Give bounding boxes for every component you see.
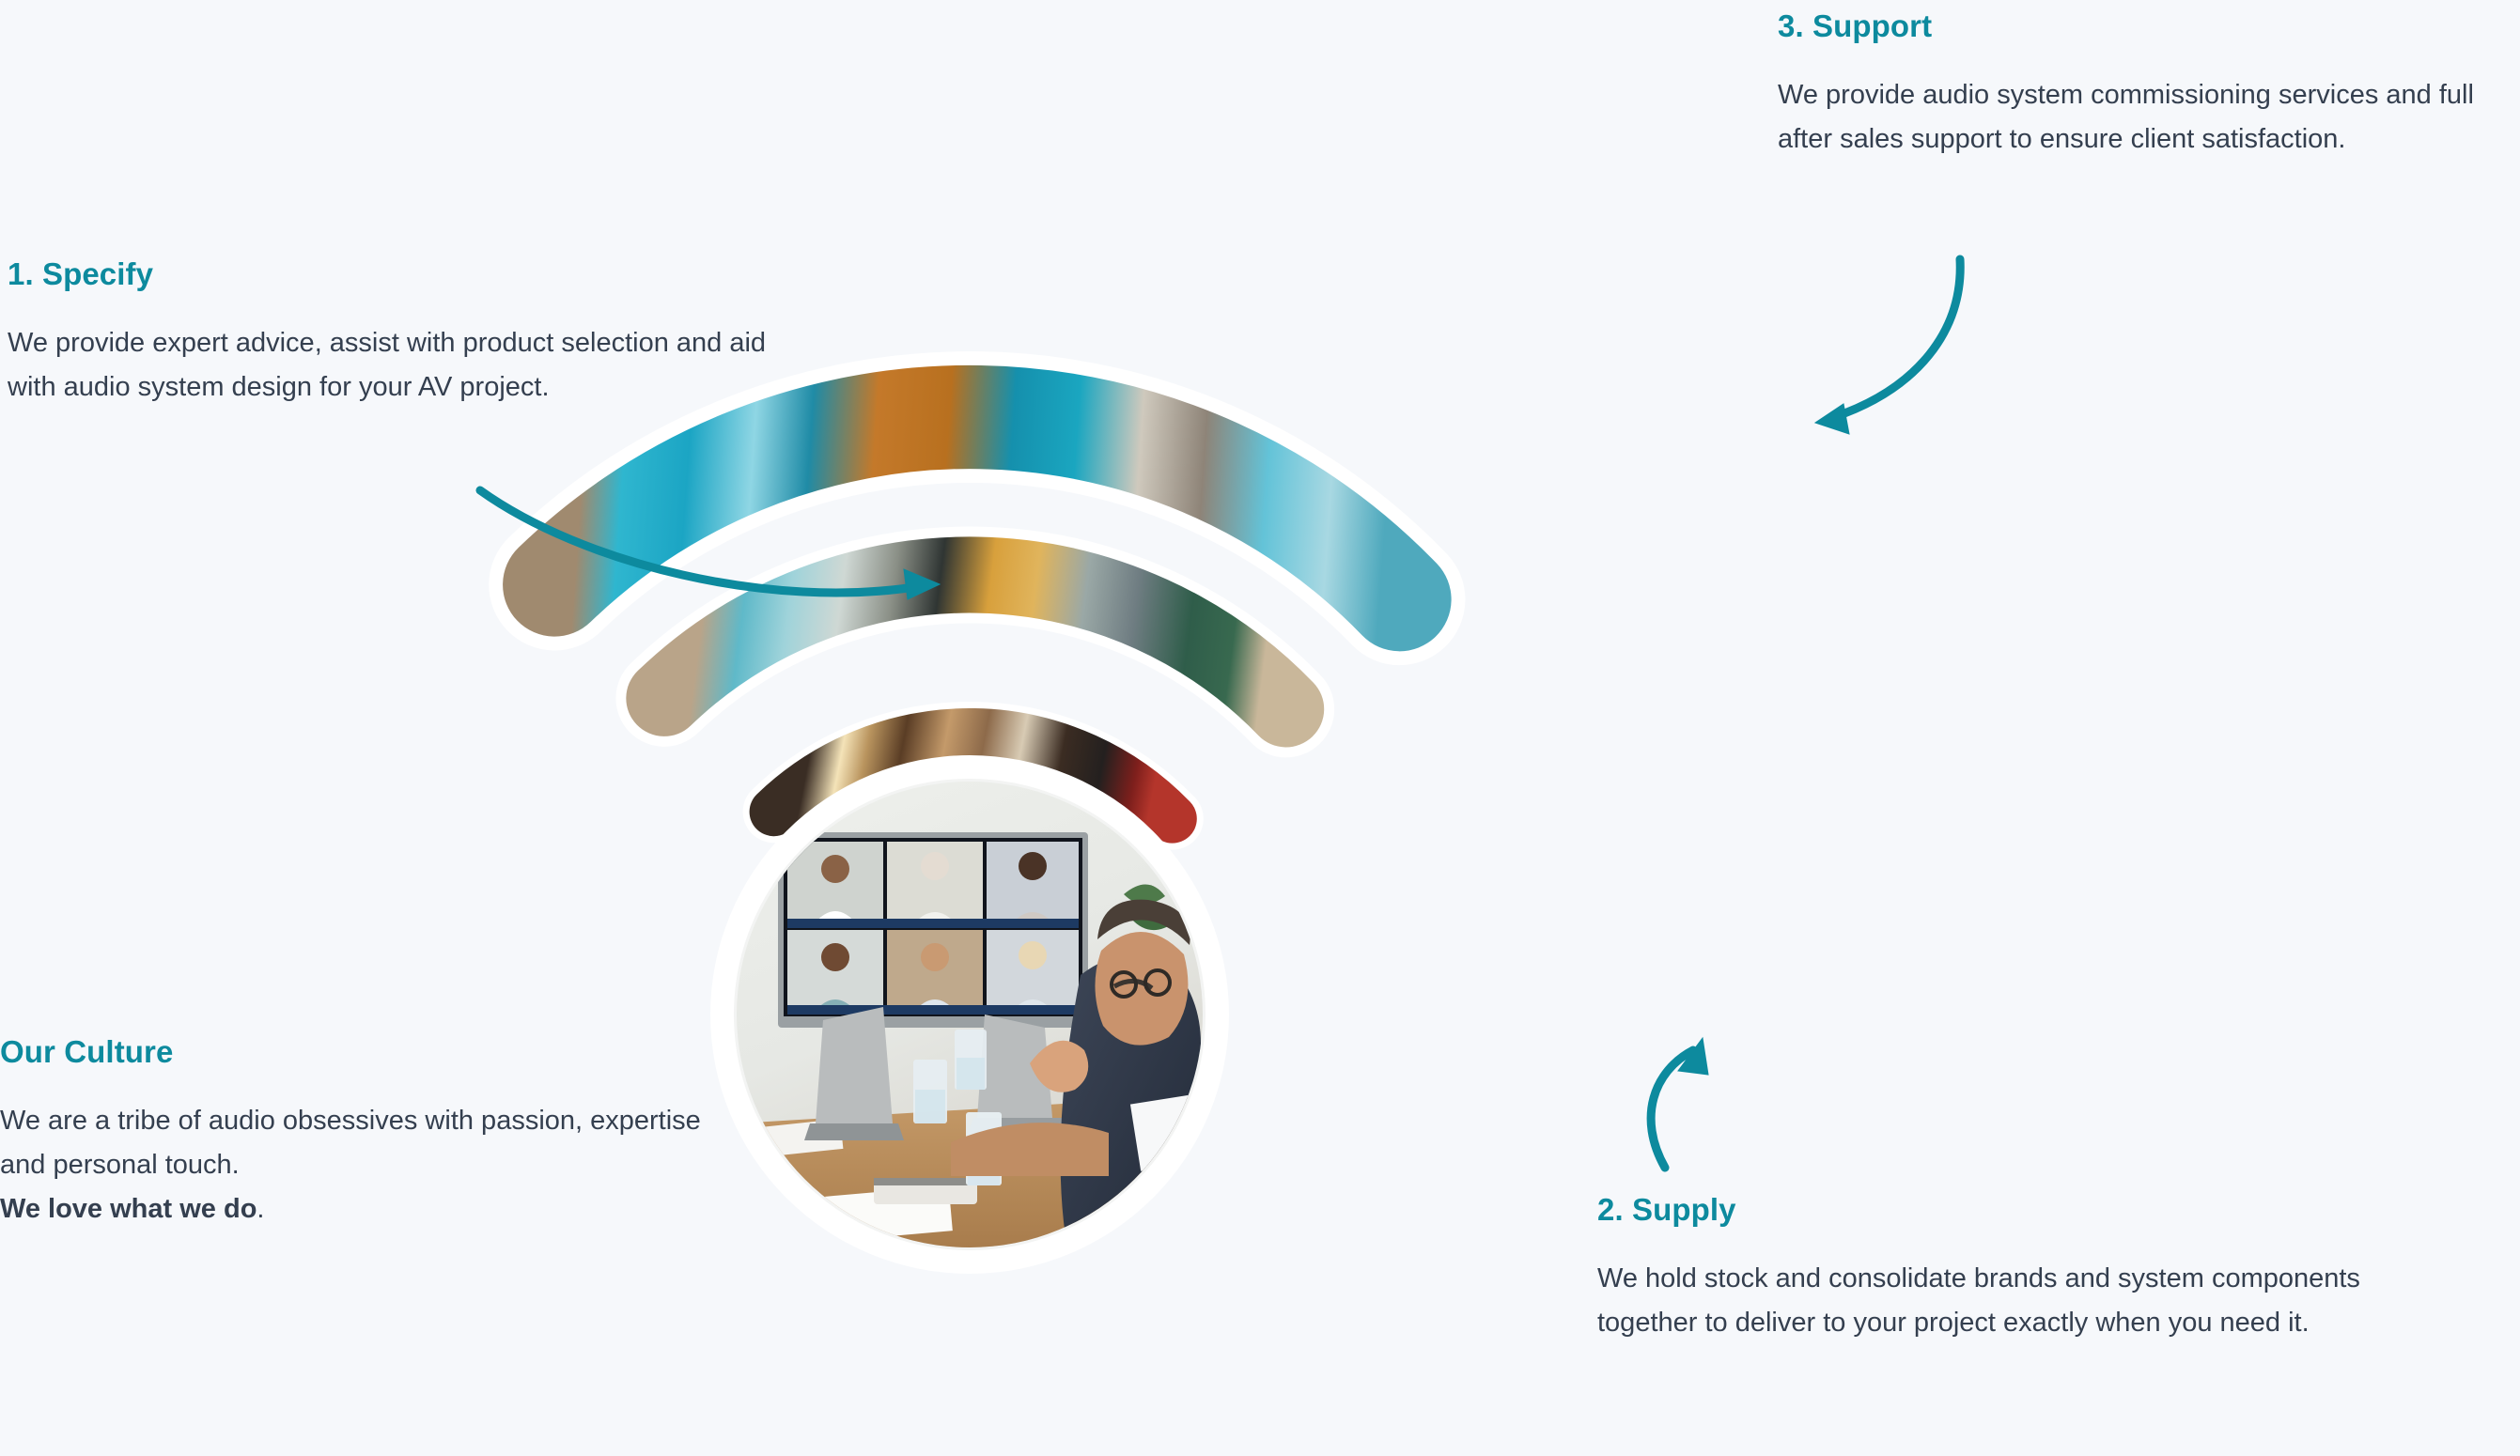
section-culture-body-emphasis: We love what we do bbox=[0, 1194, 257, 1224]
section-culture-body: We are a tribe of audio obsessives with … bbox=[0, 1099, 742, 1231]
section-culture-heading: Our Culture bbox=[0, 1033, 742, 1071]
arrow-supply bbox=[1651, 1038, 1708, 1168]
section-support-heading: 3. Support bbox=[1778, 8, 2520, 45]
section-culture: Our Culture We are a tribe of audio obse… bbox=[0, 1033, 742, 1231]
section-support: 3. Support We provide audio system commi… bbox=[1778, 8, 2520, 162]
process-diagram-page: 1. Specify We provide expert advice, ass… bbox=[0, 0, 2520, 1456]
section-culture-body-tail: . bbox=[257, 1194, 264, 1224]
section-specify-body: We provide expert advice, assist with pr… bbox=[8, 321, 787, 410]
section-supply-heading: 2. Supply bbox=[1597, 1191, 2377, 1229]
section-specify: 1. Specify We provide expert advice, ass… bbox=[8, 256, 787, 410]
middle-arc-conference-audience-photo bbox=[664, 393, 1286, 1015]
inner-arc-stage-lighting-photo bbox=[774, 616, 1173, 1015]
section-supply-body: We hold stock and consolidate brands and… bbox=[1597, 1257, 2377, 1345]
section-support-body: We provide audio system commissioning se… bbox=[1778, 73, 2520, 162]
section-supply: 2. Supply We hold stock and consolidate … bbox=[1597, 1191, 2377, 1345]
video-conference-meeting-photo bbox=[710, 755, 1229, 1274]
arrow-support bbox=[1815, 259, 1960, 434]
section-culture-body-lead: We are a tribe of audio obsessives with … bbox=[0, 1106, 701, 1180]
section-specify-heading: 1. Specify bbox=[8, 256, 787, 293]
arrow-specify bbox=[480, 490, 940, 599]
